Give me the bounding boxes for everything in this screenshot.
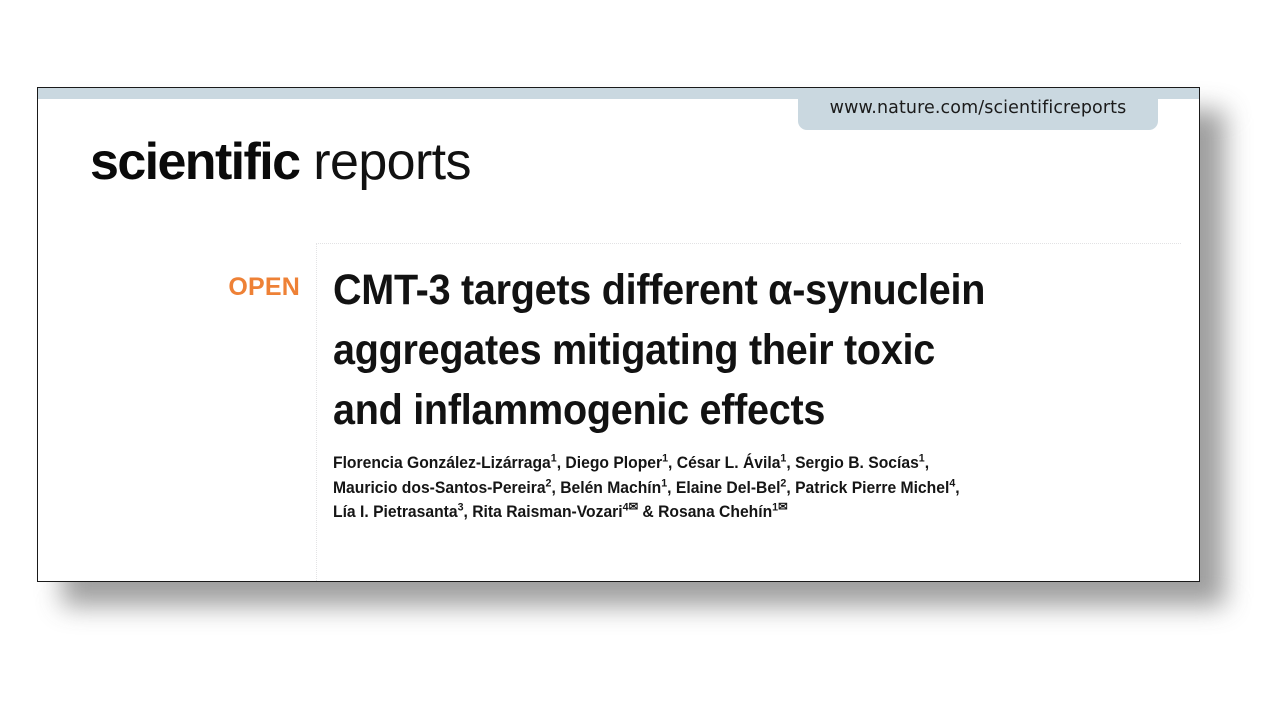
author-name: Lía I. Pietrasanta (333, 503, 458, 521)
author-line-2: Mauricio dos-Santos-Pereira2, Belén Mach… (333, 476, 1093, 501)
journal-page: www.nature.com/scientificreports scienti… (37, 87, 1200, 582)
author-line-1: Florencia González-Lizárraga1, Diego Plo… (333, 451, 1093, 476)
corresponding-author-envelope-icon[interactable]: ✉ (629, 500, 638, 514)
journal-url-badge[interactable]: www.nature.com/scientificreports (798, 88, 1158, 130)
author-affiliation-marker: 1 (661, 477, 667, 489)
article-title: CMT-3 targets different α-synuclein aggr… (333, 260, 1101, 440)
author-name: Sergio B. Socías (795, 454, 919, 472)
article-authors: Florencia González-Lizárraga1, Diego Plo… (333, 451, 1093, 525)
author-affiliation-marker: 1 (662, 453, 668, 465)
masthead-scientific: scientific (90, 133, 299, 191)
author-name: César L. Ávila (677, 454, 781, 472)
masthead-reports (299, 133, 313, 191)
author-name: Mauricio dos-Santos-Pereira (333, 479, 546, 497)
article-title-line-1: CMT-3 targets different α-synuclein (333, 260, 1101, 320)
author-affiliation-marker: 1 (780, 453, 786, 465)
author-name: Patrick Pierre Michel (795, 479, 949, 497)
author-affiliation-marker: 1 (551, 453, 557, 465)
author-name: Belén Machín (560, 479, 661, 497)
author-affiliation-marker: 2 (546, 477, 552, 489)
article-title-line-2: aggregates mitigating their toxic (333, 320, 1101, 380)
author-affiliation-marker: 4 (949, 477, 955, 489)
horizontal-dotted-rule (316, 243, 1181, 244)
author-name: Elaine Del-Bel (676, 479, 781, 497)
author-line-3: Lía I. Pietrasanta3, Rita Raisman-Vozari… (333, 500, 1093, 525)
author-affiliation-marker: 2 (780, 477, 786, 489)
masthead-reports-word: reports (313, 133, 471, 191)
vertical-dotted-rule (316, 243, 317, 581)
author-name: Florencia González-Lizárraga (333, 454, 551, 472)
corresponding-author-envelope-icon[interactable]: ✉ (778, 500, 787, 514)
journal-url-text: www.nature.com/scientificreports (830, 98, 1127, 118)
screenshot-root: www.nature.com/scientificreports scienti… (0, 0, 1280, 720)
author-affiliation-marker: 1 (919, 453, 925, 465)
author-affiliation-marker: 3 (458, 502, 464, 514)
author-name: Rita Raisman-Vozari (472, 503, 622, 521)
author-name: Diego Ploper (565, 454, 662, 472)
open-access-badge[interactable]: OPEN (205, 273, 300, 302)
journal-masthead: scientific reports (90, 136, 471, 188)
author-name: Rosana Chehín (658, 503, 772, 521)
article-title-line-3: and inflammogenic effects (333, 380, 1101, 440)
